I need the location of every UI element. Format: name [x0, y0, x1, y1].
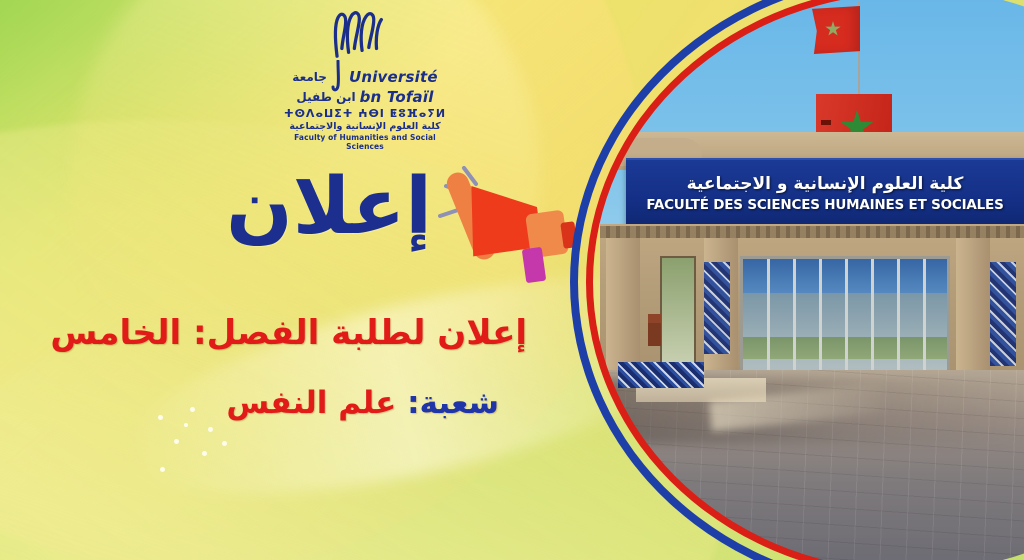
logo-alif-icon: [331, 60, 345, 94]
door-mullion: [871, 259, 874, 381]
door-mullion: [845, 259, 848, 381]
logo-french-name: bn Tofaïl: [360, 88, 434, 106]
pilaster-right: [956, 238, 990, 384]
logo-arabic-faculty: كلية العلوم الإنسانية والاجتماعية: [282, 121, 448, 132]
department-value: علم النفس: [226, 385, 396, 421]
announcement-line-2: شعبة: علم النفس: [226, 385, 499, 421]
megaphone-icon: [432, 160, 592, 290]
logo-english-faculty: Faculty of Humanities and Social Science…: [282, 133, 448, 151]
entrance-glass-doors: [740, 256, 950, 384]
zellige-tile-left: [704, 262, 730, 354]
department-label: شعبة:: [407, 385, 499, 421]
door-mullion: [793, 259, 796, 381]
faculty-signboard: كلية العلوم الإنسانية و الاجتماعية FACUL…: [626, 158, 1024, 228]
chair: [648, 322, 661, 346]
zellige-bench: [618, 362, 704, 388]
facade-cornice: [600, 226, 1024, 238]
door-mullion: [923, 259, 926, 381]
logo-arabic-university: جامعة: [292, 70, 327, 84]
signboard-french: FACULTÉ DES SCIENCES HUMAINES ET SOCIALE…: [646, 197, 1003, 213]
photo-clip-region: كلية العلوم الإنسانية و الاجتماعية FACUL…: [600, 0, 1024, 560]
logo-tifinagh: ⵜⵙⴷⴰⵡⵉⵜ ⵄⴱⵏ ⵟⵓⴼⴰⵢⵍ: [282, 107, 448, 120]
zellige-tile-right: [990, 262, 1016, 366]
signboard-arabic: كلية العلوم الإنسانية و الاجتماعية: [687, 175, 964, 194]
flag-star: [825, 21, 841, 37]
moroccan-flag-icon: [812, 6, 860, 54]
door-mullion: [819, 259, 822, 381]
side-door: [660, 256, 696, 366]
page-title: إعلان: [226, 168, 432, 246]
door-mullion: [897, 259, 900, 381]
logo-arabic-name: ابن طفيل: [296, 90, 355, 104]
background-sparkles: [150, 405, 410, 515]
logo-french-university: Université: [349, 68, 438, 86]
announcement-line-1: إعلان لطلبة الفصل: الخامس: [50, 313, 527, 353]
announcement-poster: جامعة Université ابن طفيل bn Tofaïl ⵜⵙⴷⴰ…: [0, 0, 1024, 560]
faculty-building-photo: كلية العلوم الإنسانية و الاجتماعية FACUL…: [600, 0, 1024, 560]
university-logo: جامعة Université ابن طفيل bn Tofaïl ⵜⵙⴷⴰ…: [282, 8, 448, 154]
door-mullion: [767, 259, 770, 381]
logo-calligraphy-icon: [312, 8, 418, 60]
pylon-vent: [821, 120, 831, 125]
